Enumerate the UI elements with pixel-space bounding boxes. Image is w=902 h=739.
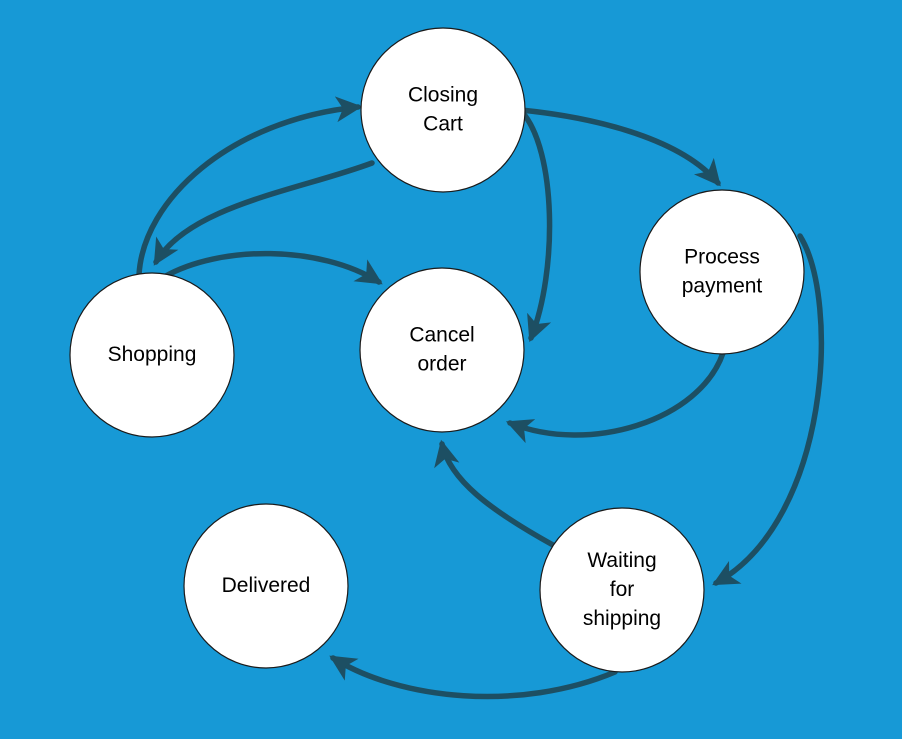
- state-diagram: ClosingCartProcesspaymentShoppingCancelo…: [0, 0, 902, 739]
- node-label-line: Cart: [423, 112, 463, 135]
- node-label-line: Delivered: [222, 574, 311, 597]
- node-closing-cart[interactable]: ClosingCart: [361, 28, 525, 192]
- node-label-line: shipping: [583, 607, 661, 630]
- node-label-line: Shopping: [108, 343, 197, 366]
- node-shape-process-payment[interactable]: [640, 190, 804, 354]
- node-shopping[interactable]: Shopping: [70, 273, 234, 437]
- node-label-line: payment: [682, 274, 763, 297]
- node-label-delivered: Delivered: [222, 574, 311, 597]
- node-label-line: Closing: [408, 83, 478, 106]
- node-delivered[interactable]: Delivered: [184, 504, 348, 668]
- node-label-line: for: [610, 578, 635, 601]
- node-label-shopping: Shopping: [108, 343, 197, 366]
- node-label-line: order: [417, 352, 466, 375]
- node-waiting-for-shipping[interactable]: Waitingforshipping: [540, 508, 704, 672]
- node-label-line: Process: [684, 245, 760, 268]
- node-cancel-order[interactable]: Cancelorder: [360, 268, 524, 432]
- node-label-line: Waiting: [587, 549, 656, 572]
- node-process-payment[interactable]: Processpayment: [640, 190, 804, 354]
- node-shape-closing-cart[interactable]: [361, 28, 525, 192]
- node-label-line: Cancel: [409, 323, 474, 346]
- node-shape-cancel-order[interactable]: [360, 268, 524, 432]
- diagram-canvas: ClosingCartProcesspaymentShoppingCancelo…: [0, 0, 902, 739]
